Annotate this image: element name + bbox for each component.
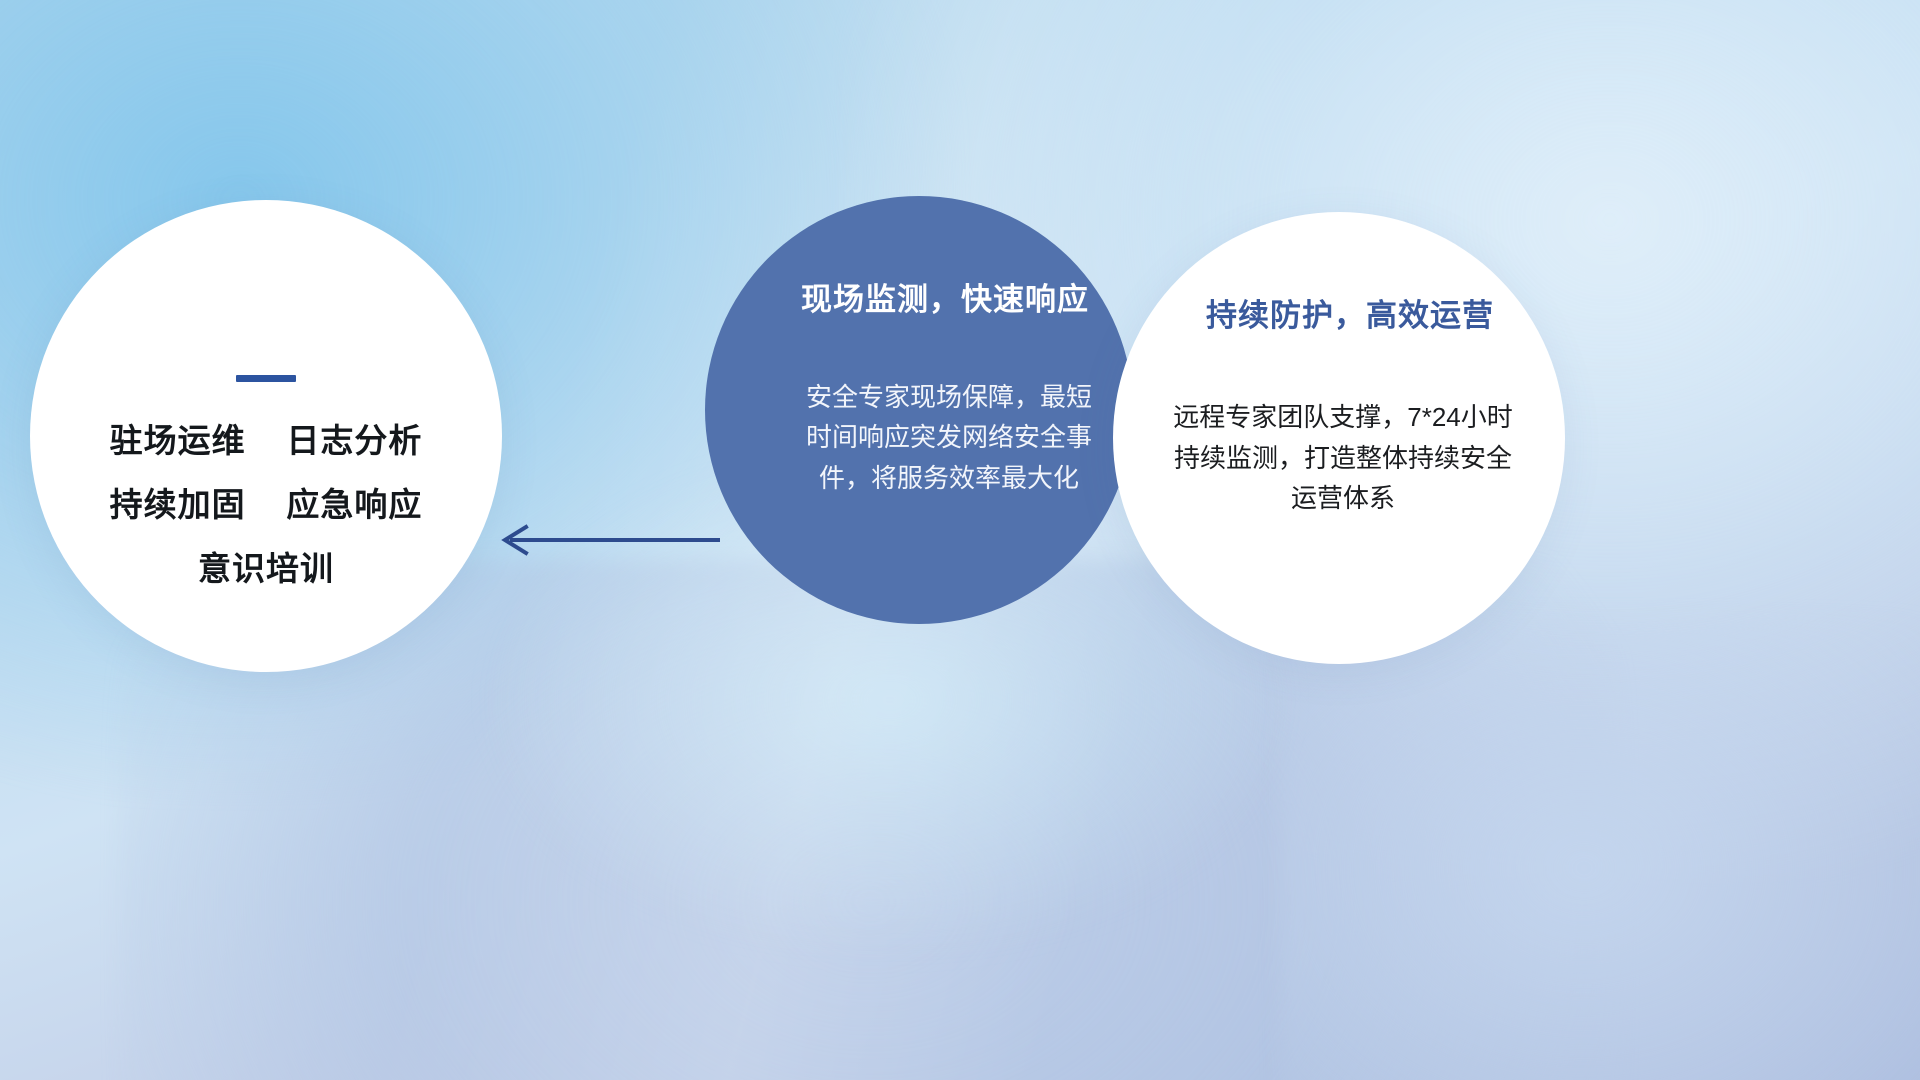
continuous-protection-body: 远程专家团队支撑，7*24小时持续监测，打造整体持续安全运营体系 (1163, 397, 1523, 519)
divider-dash (236, 375, 296, 382)
list-item: 意识培训 (198, 552, 334, 585)
continuous-protection-title: 持续防护，高效运营 (1206, 300, 1494, 331)
capability-circle-left: 驻场运维 日志分析 持续加固 应急响应 意识培训 (30, 200, 502, 672)
continuous-protection-circle: 持续防护，高效运营 远程专家团队支撑，7*24小时持续监测，打造整体持续安全运营… (1113, 212, 1565, 664)
list-item: 持续加固 应急响应 (110, 488, 423, 521)
capability-list: 驻场运维 日志分析 持续加固 应急响应 意识培训 (110, 424, 423, 585)
flow-arrow-left-icon (492, 516, 722, 564)
onsite-monitoring-body: 安全专家现场保障，最短时间响应突发网络安全事件，将服务效率最大化 (799, 377, 1099, 498)
slide-canvas: 驻场运维 日志分析 持续加固 应急响应 意识培训 现场监测，快速响应 安全专家现… (0, 0, 1920, 1080)
list-item: 驻场运维 日志分析 (110, 424, 423, 457)
onsite-monitoring-circle: 现场监测，快速响应 安全专家现场保障，最短时间响应突发网络安全事件，将服务效率最… (705, 196, 1133, 624)
onsite-monitoring-title: 现场监测，快速响应 (801, 284, 1089, 315)
